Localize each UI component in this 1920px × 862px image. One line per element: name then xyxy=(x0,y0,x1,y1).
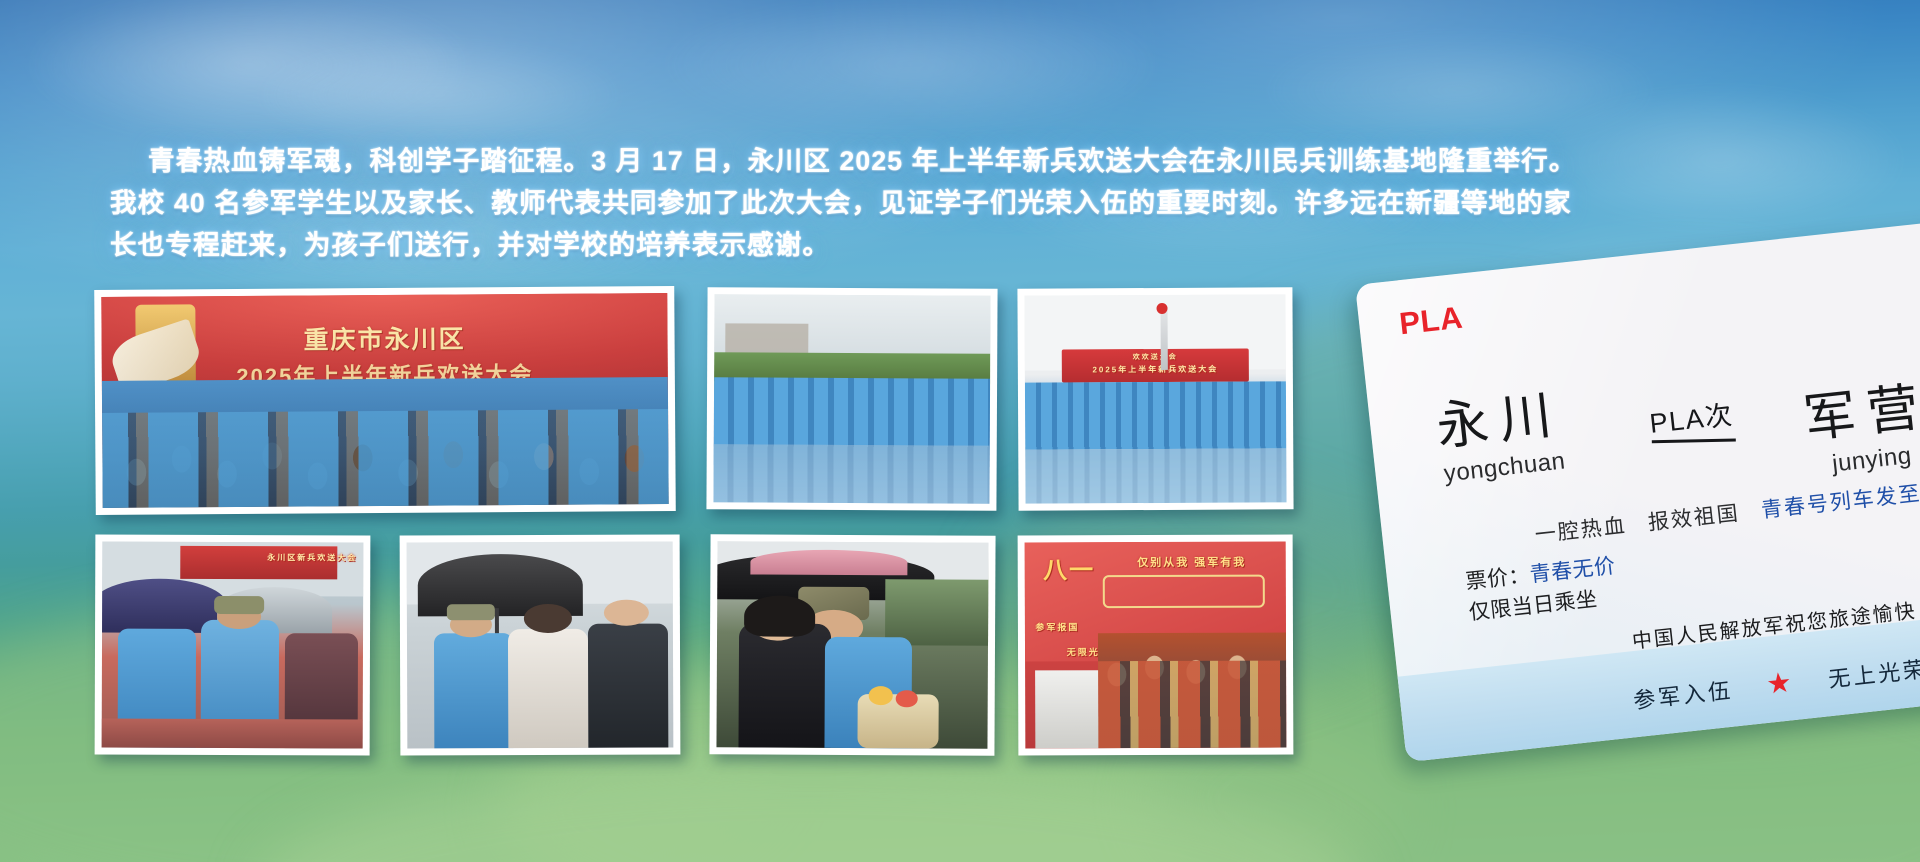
headline-line-1: 青春热血铸军魂，科创学子踏征程。3 月 17 日，永川区 2025 年上半年新兵… xyxy=(110,140,1540,182)
ticket-slogan-b: 报效祖国 xyxy=(1647,501,1741,535)
ticket-train-number: PLA次 xyxy=(1647,393,1735,447)
ticket-slogan-a: 一腔热血 xyxy=(1534,513,1628,547)
ticket-train-number-text: PLA次 xyxy=(1647,393,1735,441)
photo-formation-rain[interactable] xyxy=(706,287,997,511)
photo7-banner-top: 八一 xyxy=(1030,550,1108,585)
headline-paragraph: 青春热血铸军魂，科创学子踏征程。3 月 17 日，永川区 2025 年上半年新兵… xyxy=(110,140,1540,266)
photo4-banner: 永川区新兵欢送大会 xyxy=(102,552,363,564)
ticket-brand-pla: PLA xyxy=(1398,300,1465,343)
ticket-fare-label: 票价： xyxy=(1465,564,1532,594)
photo7-banner-col1: 参军报国 xyxy=(1035,621,1072,634)
photo7-banner-right: 仅别从我 强军有我 xyxy=(1103,554,1281,571)
photo-stage-wideshot[interactable]: 欢欢送大会 2025年上半年新兵欢送大会 xyxy=(1017,287,1293,510)
ticket-fare-block: 票价：青春无价 仅限当日乘坐 xyxy=(1464,551,1620,629)
headline-line-2: 我校 40 名参军学生以及家长、教师代表共同参加了此次大会，见证学子们光荣入伍的… xyxy=(110,182,1540,224)
ticket-train-number-rule xyxy=(1652,438,1736,443)
photo-family-sendoff[interactable] xyxy=(400,535,681,756)
ticket-destination-station: 军营 junying xyxy=(1800,364,1920,481)
red-star-icon: ★ xyxy=(1765,668,1796,699)
photo-umbrella-farewell[interactable]: 永川区新兵欢送大会 xyxy=(95,535,371,756)
photo-red-backdrop[interactable]: 八一 仅别从我 强军有我 参军报国 无限光荣 xyxy=(1018,535,1294,756)
ticket-slogan-c: 青春号列车发至 xyxy=(1760,481,1920,522)
photo3-banner-line1: 欢欢送大会 xyxy=(1025,352,1286,363)
ticket-slogan-row: 一腔热血 报效祖国 青春号列车发至梦想军营 xyxy=(1533,467,1920,549)
photo-couple-hug[interactable] xyxy=(709,534,995,755)
ticket-destination-cn: 军营 xyxy=(1800,364,1920,452)
ticket-fare-value: 青春无价 xyxy=(1529,555,1617,587)
photo-group-ceremony[interactable]: 重庆市永川区 2025年上半年新兵欢送大会 xyxy=(94,286,676,515)
train-ticket-card[interactable]: PLA 检票：祖国 强军号 特等座 永川 yongchuan PLA次 军营 j… xyxy=(1355,203,1920,762)
photo3-banner-line2: 2025年上半年新兵欢送大会 xyxy=(1025,363,1286,375)
ticket-origin-station: 永川 yongchuan xyxy=(1432,372,1569,489)
ticket-origin-cn: 永川 xyxy=(1432,372,1565,460)
headline-line-3: 长也专程赶来，为孩子们送行，并对学校的培养表示感谢。 xyxy=(110,224,1540,266)
